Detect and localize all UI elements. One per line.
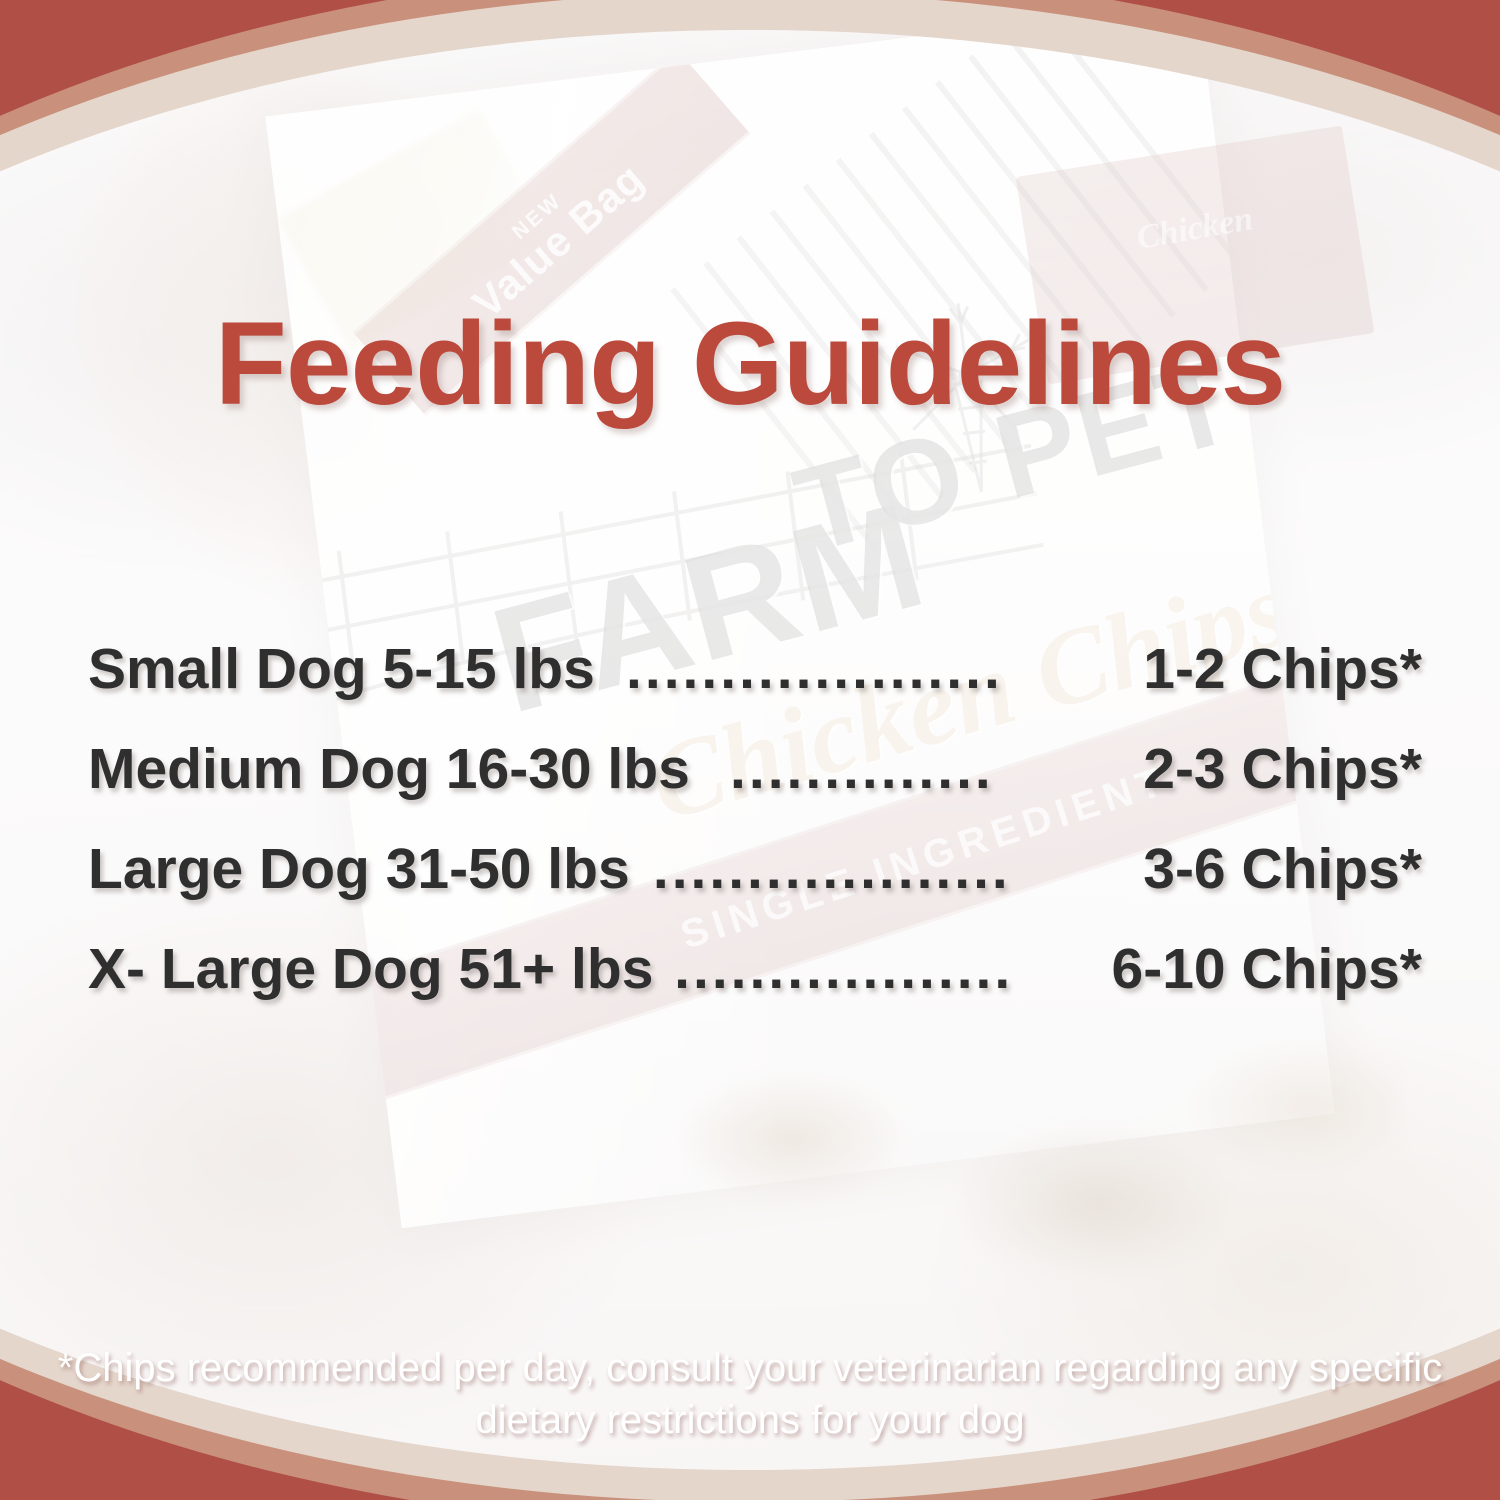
- feeding-table: Small Dog 5-15 lbs .................... …: [88, 636, 1422, 1036]
- footnote-line-1: *Chips recommended per day, consult your…: [0, 1342, 1500, 1394]
- row-label: Medium Dog 16-30 lbs: [88, 736, 690, 802]
- row-label: Small Dog 5-15 lbs: [88, 636, 595, 702]
- row-value: 6-10 Chips*: [1034, 936, 1422, 1002]
- row-label: Large Dog 31-50 lbs: [88, 836, 630, 902]
- row-dot-leader: ....................: [611, 636, 1018, 702]
- footnote: *Chips recommended per day, consult your…: [0, 1342, 1500, 1446]
- table-row: Medium Dog 16-30 lbs .............. 2-3 …: [88, 736, 1422, 836]
- row-dot-leader: ...................: [646, 836, 1018, 902]
- table-row: Large Dog 31-50 lbs ................... …: [88, 836, 1422, 936]
- poster-content: Feeding Guidelines Small Dog 5-15 lbs ..…: [0, 0, 1500, 1500]
- table-row: Small Dog 5-15 lbs .................... …: [88, 636, 1422, 736]
- row-dot-leader: ..............: [706, 736, 1018, 802]
- row-value: 3-6 Chips*: [1034, 836, 1422, 902]
- page-title: Feeding Guidelines: [0, 296, 1500, 432]
- table-row: X- Large Dog 51+ lbs .................. …: [88, 936, 1422, 1036]
- row-value: 1-2 Chips*: [1034, 636, 1422, 702]
- row-dot-leader: ..................: [669, 936, 1018, 1002]
- row-label: X- Large Dog 51+ lbs: [88, 936, 653, 1002]
- feeding-guidelines-poster: NEW Value Bag: [0, 0, 1500, 1500]
- footnote-line-2: dietary restrictions for your dog: [0, 1394, 1500, 1446]
- row-value: 2-3 Chips*: [1034, 736, 1422, 802]
